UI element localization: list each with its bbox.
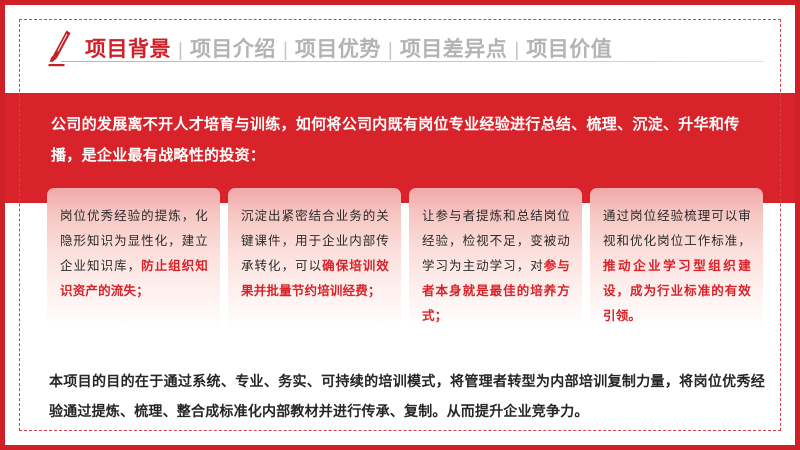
card-3-plain-2: ； [435,309,448,323]
card-4-text: 通过岗位经验梳理可以审视和优化岗位工作标准，推动企业学习型组织建设，成为行业标准… [603,204,751,329]
nav-separator-0: | [171,41,190,60]
card-2-plain-2: ； [368,284,381,298]
card-4-plain-1: 通过岗位经验梳理可以审视和优化岗位工作标准， [603,209,751,248]
card-3-text: 让参与者提炼和总结岗位经验，检视不足，变被动学习为主动学习，对参与者本身就是最佳… [422,204,570,329]
card-3: 让参与者提炼和总结岗位经验，检视不足，变被动学习为主动学习，对参与者本身就是最佳… [409,188,582,351]
header-inner: 项目背景 | 项目介绍 | 项目优势 | 项目差异点 | 项目价值 [45,23,767,75]
header-nav[interactable]: 项目背景 | 项目介绍 | 项目优势 | 项目差异点 | 项目价值 [85,39,612,60]
card-2: 沉淀出紧密结合业务的关键课件，用于企业内部传承转化，可以确保培训效果并批量节约培… [228,188,401,351]
nav-item-2[interactable]: 项目优势 [295,39,381,60]
banner-headline: 公司的发展离不开人才培育与训练，如何将公司内既有岗位专业经验进行总结、梳理、沉淀… [51,109,767,171]
card-4-highlight: 推动企业学习型组织建设，成为行业标准的有效引领。 [603,259,751,323]
pencil-icon [45,28,75,68]
card-1-plain-2: ； [136,284,149,298]
nav-item-0[interactable]: 项目背景 [85,39,171,60]
nav-item-3[interactable]: 项目差异点 [400,39,508,60]
card-1: 岗位优秀经验的提炼，化隐形知识为显性化，建立企业知识库，防止组织知识资产的流失； [47,188,220,351]
card-4: 通过岗位经验梳理可以审视和优化岗位工作标准，推动企业学习型组织建设，成为行业标准… [590,188,763,351]
nav-separator-2: | [381,41,400,60]
summary-paragraph: 本项目的目的在于通过系统、专业、务实、可持续的培训模式，将管理者转型为内部培训复… [49,366,765,426]
nav-item-1[interactable]: 项目介绍 [190,39,276,60]
card-row: 岗位优秀经验的提炼，化隐形知识为显性化，建立企业知识库，防止组织知识资产的流失；… [47,188,763,351]
slide-header: 项目背景 | 项目介绍 | 项目优势 | 项目差异点 | 项目价值 [5,23,800,75]
nav-separator-3: | [507,41,526,60]
card-2-text: 沉淀出紧密结合业务的关键课件，用于企业内部传承转化，可以确保培训效果并批量节约培… [241,204,389,304]
card-1-text: 岗位优秀经验的提炼，化隐形知识为显性化，建立企业知识库，防止组织知识资产的流失； [60,204,208,304]
nav-separator-1: | [276,41,295,60]
slide-root: 项目背景 | 项目介绍 | 项目优势 | 项目差异点 | 项目价值 公司的发展离… [0,0,800,450]
nav-item-4[interactable]: 项目价值 [526,39,612,60]
